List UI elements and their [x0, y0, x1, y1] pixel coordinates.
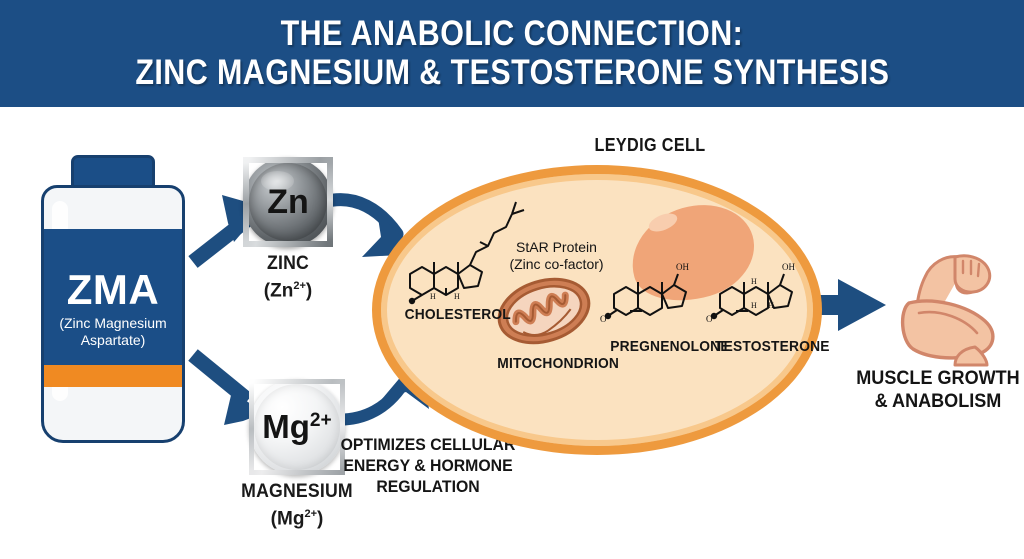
- svg-text:H: H: [430, 292, 436, 301]
- svg-text:O: O: [600, 314, 607, 324]
- magnesium-ion-label: (Mg2+): [232, 503, 362, 530]
- muscle-outcome-caption: MUSCLE GROWTH & ANABOLISM: [853, 367, 1024, 413]
- page-title-line-1: THE ANABOLIC CONNECTION:: [281, 15, 744, 53]
- bottle-subtitle-text: (Zinc Magnesium Aspartate): [44, 312, 182, 349]
- leydig-cell-label: LEYDIG CELL: [551, 135, 749, 156]
- zma-supplement-bottle[interactable]: ZMA (Zinc Magnesium Aspartate): [38, 155, 188, 445]
- zinc-name-label: ZINC: [232, 253, 344, 275]
- svg-text:H: H: [751, 301, 757, 310]
- bottle-brand-text: ZMA: [67, 268, 159, 312]
- zinc-symbol: Zn: [267, 183, 309, 222]
- diagram-body: ZMA (Zinc Magnesium Aspartate) Zn ZINC (…: [0, 107, 1024, 559]
- pathway-label-cholesterol: CHOLESTEROL: [405, 306, 511, 323]
- svg-text:OH: OH: [782, 262, 795, 272]
- zinc-ion-label: (Zn2+): [228, 275, 348, 302]
- svg-text:O: O: [706, 314, 713, 324]
- svg-text:H: H: [454, 292, 460, 301]
- muscle-outcome-node[interactable]: MUSCLE GROWTH & ANABOLISM: [848, 247, 1024, 413]
- zinc-node[interactable]: Zn ZINC (Zn2+): [228, 157, 348, 302]
- muscle-caption-line-1: MUSCLE GROWTH: [853, 367, 1024, 390]
- bottle-label: ZMA (Zinc Magnesium Aspartate): [44, 229, 182, 387]
- infographic-canvas: THE ANABOLIC CONNECTION: ZINC MAGNESIUM …: [0, 0, 1024, 559]
- flexed-biceps-icon: [863, 247, 1013, 365]
- bottle-band-bottom: [44, 365, 182, 387]
- magnesium-function-note: OPTIMIZES CELLULAR ENERGY & HORMONE REGU…: [340, 434, 517, 497]
- zinc-sphere-icon: Zn: [243, 157, 333, 247]
- svg-text:OH: OH: [676, 262, 689, 272]
- pathway-label-pregnenolone: PREGNENOLONE: [610, 338, 730, 355]
- muscle-caption-line-2: & ANABOLISM: [853, 390, 1024, 413]
- svg-text:H: H: [768, 301, 774, 310]
- page-title-line-2: ZINC MAGNESIUM & TESTOSTERONE SYNTHESIS: [135, 53, 889, 93]
- pathway-label-mitochondrion: MITOCHONDRION: [497, 355, 619, 372]
- svg-text:H: H: [751, 277, 757, 286]
- magnesium-sphere-icon: Mg2+: [249, 379, 345, 475]
- magnesium-symbol: Mg2+: [262, 408, 331, 446]
- pregnenolone-molecule-icon: O OH: [600, 232, 700, 337]
- header-banner: THE ANABOLIC CONNECTION: ZINC MAGNESIUM …: [0, 0, 1024, 107]
- testosterone-molecule-icon: O OH H H H: [706, 232, 806, 337]
- pathway-label-testosterone: TESTOSTERONE: [715, 338, 830, 355]
